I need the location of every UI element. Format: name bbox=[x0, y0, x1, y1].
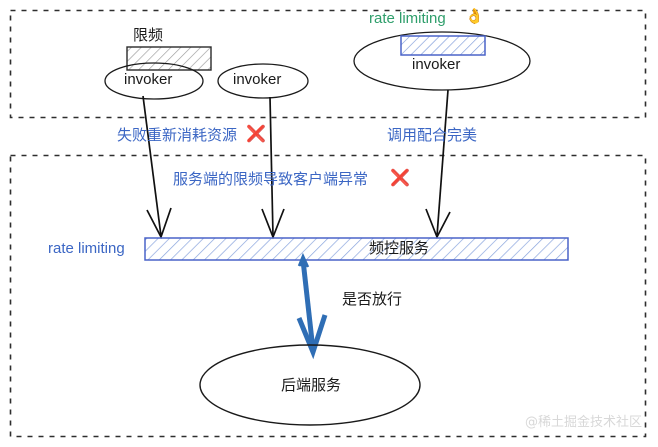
green-rate-limiting-label: rate limiting bbox=[369, 11, 446, 26]
diagram-canvas: 限频 invoker invoker invoker rate limiting… bbox=[0, 0, 658, 447]
watermark: @稀土掘金技术社区 bbox=[525, 416, 642, 429]
arrow-invoker3-to-bar bbox=[437, 90, 448, 236]
edge-label-perfect-cooperation: 调用配合完美 bbox=[387, 128, 477, 143]
invoker-2-label: invoker bbox=[233, 72, 281, 87]
client-zone-box bbox=[11, 11, 646, 118]
rate-limiting-bar-label: 频控服务 bbox=[369, 241, 429, 256]
edge-label-server-limit-exception: 服务端的限频导致客户端异常 bbox=[173, 172, 368, 187]
cross-mark-icon-2: ❌ bbox=[390, 171, 410, 187]
invoker-3-hatch-box bbox=[401, 36, 485, 55]
server-rate-limiting-label: rate limiting bbox=[48, 241, 125, 256]
edge-label-failure-retry: 失败重新消耗资源 bbox=[117, 128, 237, 143]
server-zone-box bbox=[11, 156, 646, 437]
invoker-3-label: invoker bbox=[412, 57, 460, 72]
invoker-1-label: invoker bbox=[124, 72, 172, 87]
xianpin-label: 限频 bbox=[133, 28, 163, 43]
decision-label: 是否放行 bbox=[342, 292, 402, 307]
rate-limiting-bar bbox=[145, 238, 568, 260]
ok-hand-icon: 👌 bbox=[465, 9, 484, 24]
backend-service-label: 后端服务 bbox=[281, 378, 341, 393]
cross-mark-icon-1: ❌ bbox=[246, 127, 266, 143]
